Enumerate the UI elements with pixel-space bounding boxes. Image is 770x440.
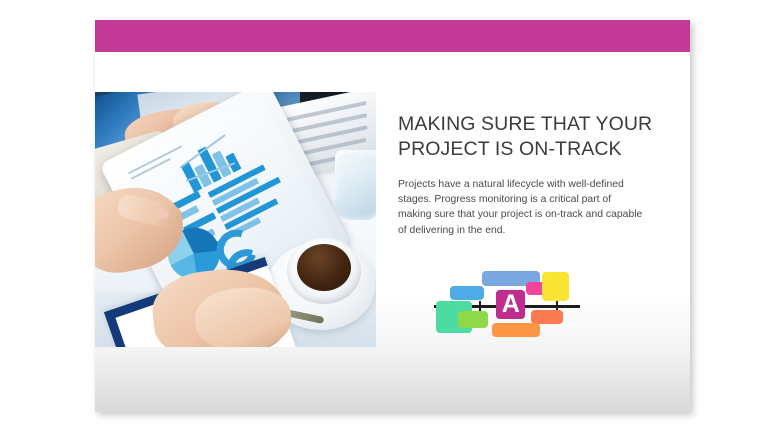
header-accent-band	[95, 20, 690, 52]
slide-body-text: Projects have a natural lifecycle with w…	[398, 177, 646, 238]
business-meeting-tablet-photo	[95, 92, 376, 347]
timeline-blue-bar-left	[450, 286, 484, 300]
timeline-green-bar-light	[458, 311, 488, 328]
photo-coffee-liquid	[297, 244, 351, 291]
timeline-badge-letter: A	[496, 290, 525, 319]
project-timeline-graphic: A	[432, 263, 580, 341]
slide-canvas: MAKING SURE THAT YOUR PROJECT IS ON-TRAC…	[0, 0, 770, 440]
timeline-orange-bar-bottom	[492, 323, 540, 337]
timeline-orange-bar-right	[531, 310, 563, 324]
timeline-yellow-block	[542, 272, 569, 301]
photo-water-glass	[335, 150, 376, 220]
slide-title: MAKING SURE THAT YOUR PROJECT IS ON-TRAC…	[398, 112, 660, 162]
presentation-slide: MAKING SURE THAT YOUR PROJECT IS ON-TRAC…	[95, 20, 690, 412]
